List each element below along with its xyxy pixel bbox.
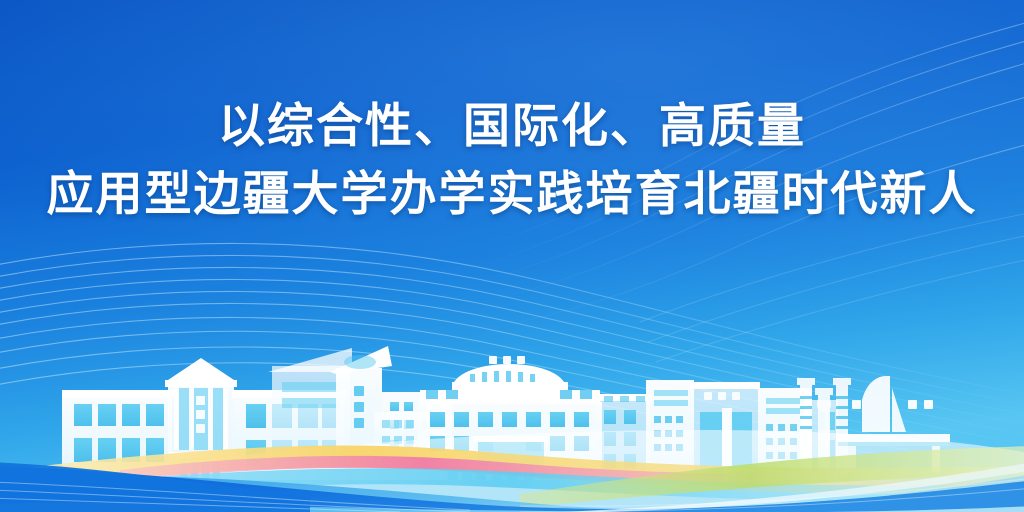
campus-banner: 以综合性、国际化、高质量 应用型边疆大学办学实践培育北疆时代新人 bbox=[0, 0, 1024, 512]
wave-ribbons-layer bbox=[0, 0, 1024, 512]
